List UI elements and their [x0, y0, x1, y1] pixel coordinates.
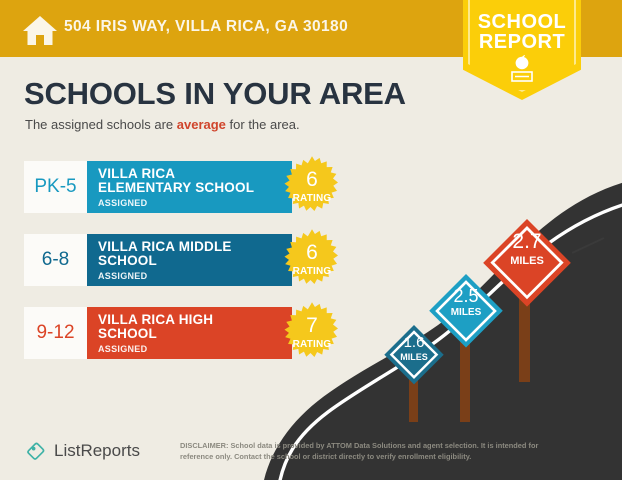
school-name: VILLA RICA MIDDLE SCHOOL: [98, 240, 288, 268]
school-report-infographic: 1.6 MILES 2.5 MILES 2.7 MILES 504 IRIS W…: [0, 0, 622, 480]
page-title: SCHOOLS IN YOUR AREA: [24, 76, 406, 112]
subtitle-after: for the area.: [226, 117, 300, 132]
grade-badge: 9-12: [24, 307, 87, 359]
rating-value: 7: [280, 315, 344, 336]
rating-label: RATING: [280, 339, 344, 350]
school-name-line-2: SCHOOL: [98, 254, 288, 268]
sign-pole-wire: [572, 236, 606, 256]
school-name-line-1: VILLA RICA MIDDLE: [98, 240, 288, 254]
page-subtitle: The assigned schools are average for the…: [25, 117, 300, 132]
grade-label: PK-5: [34, 176, 76, 198]
grade-label: 6-8: [42, 249, 69, 271]
school-name: VILLA RICA HIGH SCHOOL: [98, 313, 288, 341]
grade-label: 9-12: [36, 322, 74, 344]
sign-value: 2.7: [480, 231, 574, 252]
grade-badge: 6-8: [24, 234, 87, 286]
property-address: 504 IRIS WAY, VILLA RICA, GA 30180: [64, 18, 348, 36]
disclaimer-text: DISCLAIMER: School data is provided by A…: [180, 441, 545, 462]
school-name-line-1: VILLA RICA HIGH: [98, 313, 288, 327]
rating-label: RATING: [280, 266, 344, 277]
listreports-tag-icon: [25, 440, 47, 462]
grade-badge: PK-5: [24, 161, 87, 213]
assigned-status: ASSIGNED: [98, 271, 147, 281]
school-name-line-2: SCHOOL: [98, 327, 288, 341]
rating-value: 6: [280, 169, 344, 190]
apple-on-book-icon: [510, 54, 534, 86]
subtitle-before: The assigned schools are: [25, 117, 177, 132]
school-name-line-1: VILLA RICA: [98, 167, 288, 181]
subtitle-highlight: average: [177, 117, 226, 132]
listreports-logo[interactable]: ListReports: [25, 440, 140, 462]
rating-label: RATING: [280, 193, 344, 204]
school-name-line-2: ELEMENTARY SCHOOL: [98, 181, 288, 195]
house-icon: [22, 14, 58, 46]
school-name: VILLA RICA ELEMENTARY SCHOOL: [98, 167, 288, 195]
badge-line-1: SCHOOL: [463, 12, 581, 32]
assigned-status: ASSIGNED: [98, 198, 147, 208]
listreports-logo-text: ListReports: [54, 441, 140, 461]
sign-unit: MILES: [381, 352, 447, 362]
sign-unit: MILES: [480, 255, 574, 267]
badge-line-2: REPORT: [463, 32, 581, 52]
assigned-status: ASSIGNED: [98, 344, 147, 354]
rating-value: 6: [280, 242, 344, 263]
